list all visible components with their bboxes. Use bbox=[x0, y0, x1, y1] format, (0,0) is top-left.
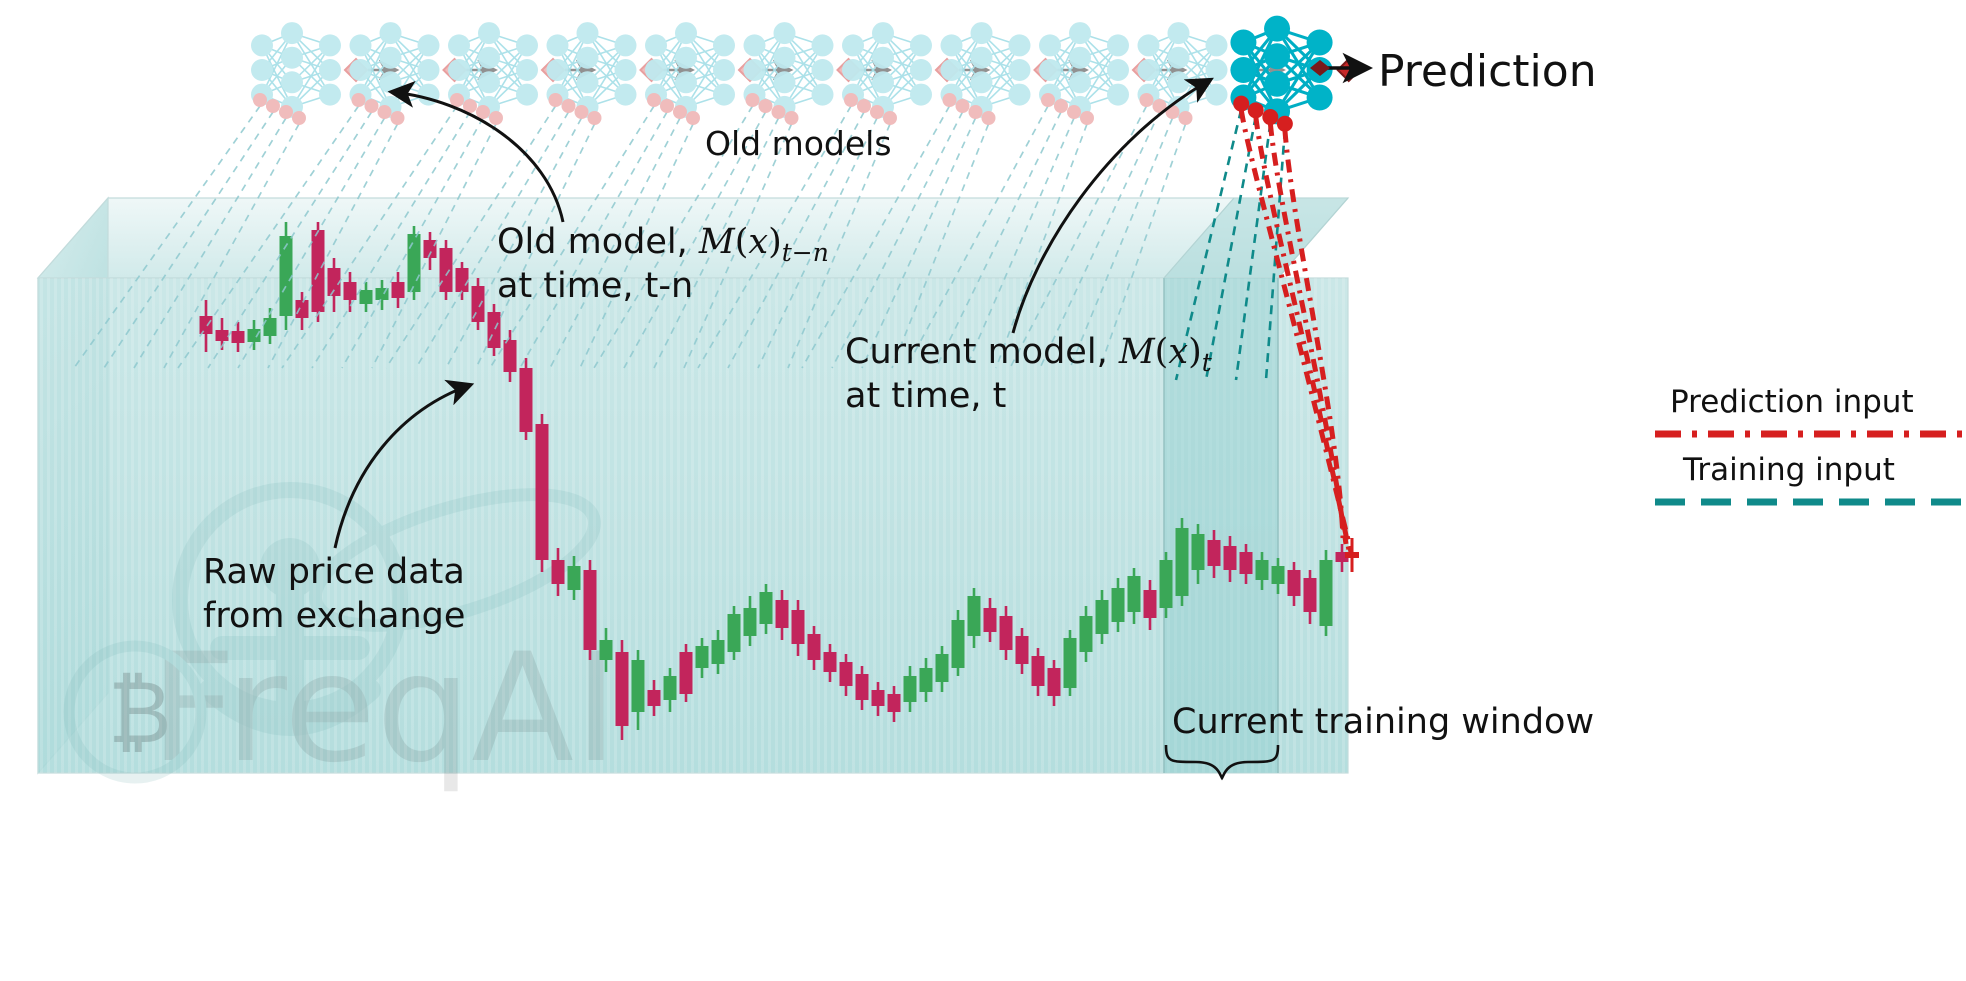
model-input-dot bbox=[352, 93, 366, 107]
network-node bbox=[713, 84, 735, 106]
candle-body bbox=[808, 634, 821, 660]
candle-body bbox=[488, 312, 501, 348]
candle-body bbox=[776, 600, 789, 628]
candle-body bbox=[1320, 560, 1333, 626]
model-input-dot bbox=[660, 99, 674, 113]
candle-body bbox=[536, 424, 549, 560]
network-node bbox=[1168, 47, 1190, 69]
candle-body bbox=[888, 694, 901, 712]
network-node bbox=[1168, 71, 1190, 93]
network-node bbox=[812, 84, 834, 106]
network-node bbox=[281, 22, 303, 44]
network-node bbox=[872, 47, 894, 69]
candle-body bbox=[840, 662, 853, 686]
network-node bbox=[380, 71, 402, 93]
network-node bbox=[971, 22, 993, 44]
network-node bbox=[380, 47, 402, 69]
candle-body bbox=[392, 282, 405, 298]
candle-body bbox=[600, 640, 613, 660]
current-training-window-annotation: Current training window bbox=[1166, 702, 1594, 778]
network-node bbox=[577, 71, 599, 93]
network-node bbox=[812, 59, 834, 81]
network-node bbox=[1107, 59, 1129, 81]
model-input-dot bbox=[1067, 105, 1081, 119]
candle-body bbox=[1176, 528, 1189, 596]
network-node bbox=[516, 34, 538, 56]
candle-body bbox=[664, 676, 677, 700]
network-node bbox=[615, 84, 637, 106]
candle-body bbox=[1240, 552, 1253, 574]
network-node bbox=[1138, 59, 1160, 81]
network-node bbox=[744, 34, 766, 56]
model-input-dot bbox=[549, 93, 563, 107]
candle-body bbox=[344, 282, 357, 300]
network-node bbox=[319, 34, 341, 56]
network-node bbox=[380, 22, 402, 44]
current-model-network bbox=[1230, 16, 1359, 132]
network-node bbox=[1206, 59, 1228, 81]
legend: Prediction input Training input bbox=[1655, 384, 1962, 502]
network-node bbox=[1107, 34, 1129, 56]
network-node bbox=[1039, 59, 1061, 81]
network-node bbox=[645, 34, 667, 56]
model-input-dot bbox=[1054, 99, 1068, 113]
candle-body bbox=[984, 608, 997, 632]
network-node bbox=[1107, 84, 1129, 106]
candle-body bbox=[920, 668, 933, 692]
candle-body bbox=[680, 652, 693, 694]
network-node bbox=[675, 47, 697, 69]
model-input-dot bbox=[883, 111, 897, 125]
network-node bbox=[842, 59, 864, 81]
candle-body bbox=[248, 329, 261, 342]
network-node bbox=[478, 71, 500, 93]
network-node bbox=[1069, 47, 1091, 69]
candle-body bbox=[440, 248, 453, 292]
model-input-dot bbox=[943, 93, 957, 107]
network-node bbox=[941, 59, 963, 81]
model-input-dot bbox=[686, 111, 700, 125]
network-node bbox=[1264, 71, 1290, 97]
prediction-label: Prediction bbox=[1378, 46, 1597, 97]
model-input-dot bbox=[279, 105, 293, 119]
network-node bbox=[1009, 34, 1031, 56]
candle-body bbox=[408, 234, 421, 292]
network-node bbox=[1168, 22, 1190, 44]
raw-price-line2: from exchange bbox=[203, 596, 465, 636]
candle-body bbox=[952, 620, 965, 668]
network-node bbox=[478, 47, 500, 69]
network-node bbox=[1230, 57, 1256, 83]
candle-body bbox=[584, 570, 597, 650]
model-input-dot bbox=[1140, 93, 1154, 107]
candle-body bbox=[216, 330, 229, 341]
candle-body bbox=[1304, 578, 1317, 612]
candle-body bbox=[792, 610, 805, 644]
candle-body bbox=[360, 290, 373, 304]
model-input-dot bbox=[1262, 109, 1278, 125]
old-model-line2: at time, t-n bbox=[497, 266, 693, 306]
candle-body bbox=[1288, 570, 1301, 596]
candle-body bbox=[280, 236, 293, 316]
candle-body bbox=[1096, 600, 1109, 634]
network-node bbox=[615, 34, 637, 56]
model-input-dot bbox=[982, 111, 996, 125]
network-node bbox=[971, 71, 993, 93]
network-node bbox=[812, 34, 834, 56]
network-node bbox=[774, 22, 796, 44]
model-output-diamond bbox=[1338, 59, 1360, 81]
candle-body bbox=[824, 652, 837, 672]
candle-body bbox=[712, 640, 725, 664]
network-node bbox=[1264, 43, 1290, 69]
network-node bbox=[1307, 85, 1333, 111]
candle-body bbox=[1064, 638, 1077, 688]
network-node bbox=[713, 34, 735, 56]
network-node bbox=[910, 84, 932, 106]
candle-body bbox=[1192, 534, 1205, 570]
network-node bbox=[910, 34, 932, 56]
candle-body bbox=[1080, 616, 1093, 652]
network-node bbox=[645, 59, 667, 81]
candle-body bbox=[312, 230, 325, 312]
candle-body bbox=[1256, 560, 1269, 580]
network-node bbox=[1307, 29, 1333, 55]
network-node bbox=[281, 71, 303, 93]
candle-body bbox=[1016, 636, 1029, 664]
model-network-row bbox=[251, 16, 1360, 132]
network-node bbox=[774, 71, 796, 93]
network-node bbox=[1009, 59, 1031, 81]
candle-body bbox=[1160, 560, 1173, 608]
network-node bbox=[350, 34, 372, 56]
model-input-dot bbox=[391, 111, 405, 125]
candle-body bbox=[568, 566, 581, 590]
network-node bbox=[872, 71, 894, 93]
network-node bbox=[516, 59, 538, 81]
candle-body bbox=[728, 614, 741, 652]
network-node bbox=[448, 34, 470, 56]
network-node bbox=[744, 59, 766, 81]
current-training-window-label: Current training window bbox=[1172, 702, 1594, 742]
network-node bbox=[872, 22, 894, 44]
svg-text:FreqAI: FreqAI bbox=[150, 622, 618, 796]
diagram-canvas: FreqAI ₿ Prediction Old models Old model… bbox=[0, 0, 1966, 981]
network-node bbox=[418, 34, 440, 56]
candle-body bbox=[936, 654, 949, 682]
freqai-architecture-figure: FreqAI ₿ Prediction Old models Old model… bbox=[0, 0, 1966, 981]
network-node bbox=[941, 34, 963, 56]
model-input-dot bbox=[785, 111, 799, 125]
network-node bbox=[1069, 22, 1091, 44]
model-input-dot bbox=[1248, 102, 1264, 118]
model-input-dot bbox=[746, 93, 760, 107]
model-input-dot bbox=[1233, 96, 1249, 112]
network-node bbox=[1009, 84, 1031, 106]
network-node bbox=[319, 59, 341, 81]
model-input-dot bbox=[253, 93, 267, 107]
old-models-label: Old models bbox=[705, 124, 892, 163]
model-input-dot bbox=[870, 105, 884, 119]
candle-body bbox=[552, 560, 565, 584]
network-node bbox=[577, 22, 599, 44]
candle-body bbox=[200, 316, 213, 334]
candle-body bbox=[1000, 616, 1013, 650]
candle-body bbox=[1128, 576, 1141, 612]
model-input-dot bbox=[562, 99, 576, 113]
network-node bbox=[251, 34, 273, 56]
network-node bbox=[478, 22, 500, 44]
current-model-line1: Current model, M(x)t bbox=[845, 332, 1213, 377]
model-input-dot bbox=[450, 93, 464, 107]
network-node bbox=[547, 34, 569, 56]
network-node bbox=[1230, 29, 1256, 55]
network-node bbox=[350, 59, 372, 81]
candle-body bbox=[648, 690, 661, 706]
network-node bbox=[281, 47, 303, 69]
candle-body bbox=[520, 368, 533, 432]
candle-body bbox=[1112, 588, 1125, 622]
network-node bbox=[1138, 34, 1160, 56]
model-input-dot bbox=[857, 99, 871, 113]
prediction-arrow bbox=[1310, 60, 1368, 76]
candle-body bbox=[1224, 546, 1237, 570]
model-input-dot bbox=[1179, 111, 1193, 125]
network-node bbox=[842, 34, 864, 56]
network-node bbox=[1069, 71, 1091, 93]
candle-body bbox=[504, 340, 517, 372]
old-model-line1: Old model, M(x)t−n bbox=[497, 222, 829, 267]
model-input-dot bbox=[673, 105, 687, 119]
candle-body bbox=[1144, 590, 1157, 618]
model-input-dot bbox=[647, 93, 661, 107]
network-node bbox=[1206, 34, 1228, 56]
network-node bbox=[1264, 16, 1290, 42]
candle-body bbox=[872, 690, 885, 706]
candle-body bbox=[1032, 656, 1045, 686]
candle-body bbox=[456, 268, 469, 292]
model-input-dot bbox=[772, 105, 786, 119]
candle-body bbox=[856, 674, 869, 700]
network-node bbox=[615, 59, 637, 81]
model-input-dot bbox=[1041, 93, 1055, 107]
model-input-dot bbox=[575, 105, 589, 119]
network-node bbox=[675, 71, 697, 93]
candle-body bbox=[1272, 566, 1285, 584]
svg-text:₿: ₿ bbox=[108, 663, 172, 763]
candle-body bbox=[1208, 540, 1221, 566]
model-input-dot bbox=[1080, 111, 1094, 125]
network-node bbox=[1206, 84, 1228, 106]
candle-body bbox=[632, 660, 645, 712]
network-node bbox=[418, 59, 440, 81]
model-input-dot bbox=[489, 111, 503, 125]
network-node bbox=[971, 47, 993, 69]
network-node bbox=[251, 59, 273, 81]
network-node bbox=[547, 59, 569, 81]
network-node bbox=[774, 47, 796, 69]
model-input-dot bbox=[969, 105, 983, 119]
candle-body bbox=[904, 676, 917, 702]
candle-body bbox=[968, 596, 981, 636]
predicted-candle-body bbox=[1345, 552, 1359, 558]
model-input-dot bbox=[844, 93, 858, 107]
network-node bbox=[910, 59, 932, 81]
model-input-dot bbox=[956, 99, 970, 113]
model-input-dot bbox=[759, 99, 773, 113]
network-node bbox=[319, 84, 341, 106]
model-input-dot bbox=[365, 99, 379, 113]
network-node bbox=[577, 47, 599, 69]
model-input-dot bbox=[292, 111, 306, 125]
candle-body bbox=[296, 300, 309, 318]
candle-body bbox=[744, 608, 757, 636]
network-node bbox=[516, 84, 538, 106]
network-node bbox=[1039, 34, 1061, 56]
legend-label-prediction-input: Prediction input bbox=[1670, 384, 1914, 420]
raw-price-line1: Raw price data bbox=[203, 552, 465, 592]
model-input-dot bbox=[588, 111, 602, 125]
model-input-dot bbox=[378, 105, 392, 119]
legend-label-training-input: Training input bbox=[1682, 452, 1895, 488]
network-node bbox=[713, 59, 735, 81]
network-node bbox=[448, 59, 470, 81]
candle-body bbox=[696, 646, 709, 668]
network-node bbox=[675, 22, 697, 44]
model-input-dot bbox=[1277, 116, 1293, 132]
candle-body bbox=[232, 331, 245, 343]
candle-body bbox=[1048, 668, 1061, 696]
current-model-line2: at time, t bbox=[845, 376, 1006, 416]
model-input-dot bbox=[266, 99, 280, 113]
candle-body bbox=[616, 652, 629, 726]
candle-body bbox=[760, 592, 773, 624]
